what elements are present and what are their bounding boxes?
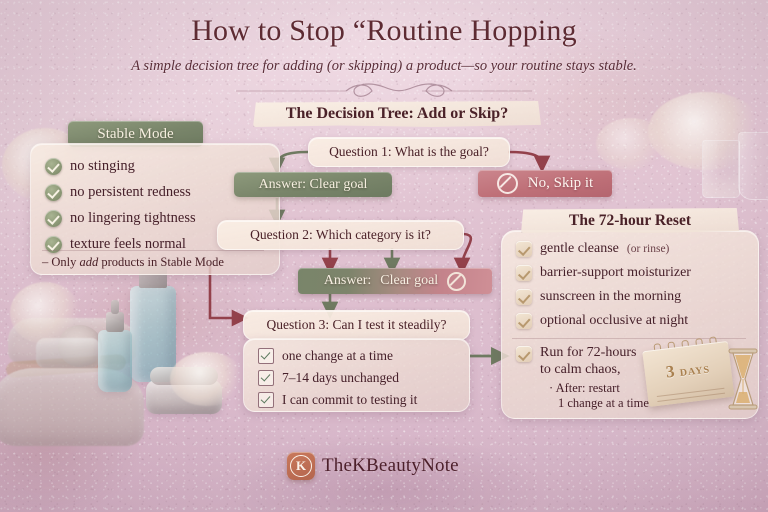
list-item[interactable]: 7–14 days unchanged [258, 370, 469, 386]
answer-2-label: Answer: [324, 273, 371, 289]
list-item: barrier-support moisturizer [516, 265, 756, 281]
after-restart-note: · After: restart 1 change at a time [549, 381, 649, 411]
no-entry-icon [497, 173, 518, 194]
after-line-1: · After: restart [549, 381, 620, 395]
footnote-emphasis: add [80, 255, 99, 269]
question-1-box: Question 1: What is the goal? [308, 137, 510, 167]
answer-2-value: Clear goal [380, 273, 438, 289]
run-line-2: to calm chaos, [540, 362, 620, 377]
hourglass-icon [726, 348, 760, 410]
stable-mode-title: Stable Mode [97, 126, 173, 143]
reset-item-note: (or rinse) [627, 243, 669, 255]
logo-letter: K [290, 455, 312, 477]
infographic-canvas: How to Stop “Routine Hopping A simple de… [0, 0, 768, 512]
checkbox-checked-icon[interactable] [258, 370, 274, 386]
list-item: optional occlusive at night [516, 313, 756, 329]
footnote-prefix: – Only [42, 255, 80, 269]
check-circle-icon [45, 158, 62, 175]
answer-1-chip: Answer: Clear goal [234, 172, 392, 197]
run-line-1: Run for 72-hours [540, 345, 636, 360]
check-badge-icon [516, 346, 532, 362]
calendar-3days-icon: 3 DAYS [642, 335, 735, 407]
footnote-suffix: products in Stable Mode [98, 255, 224, 269]
stable-mode-footnote: – Only add products in Stable Mode [42, 255, 224, 270]
stable-mode-item-label: no stinging [70, 158, 135, 175]
check-circle-icon [45, 184, 62, 201]
question-3-label: Question 3: Can I test it steadily? [267, 317, 447, 333]
question-1-label: Question 1: What is the goal? [329, 144, 489, 160]
list-item[interactable]: one change at a time [258, 348, 469, 364]
list-item: no persistent redness [45, 184, 265, 201]
decision-tree-banner: The Decision Tree: Add or Skip? [253, 101, 541, 127]
steady-item-label: I can commit to testing it [282, 392, 417, 408]
stable-mode-divider [42, 250, 264, 251]
reset-item-label: gentle cleanse [540, 241, 619, 257]
answer-1-label: Answer: Clear goal [259, 177, 368, 193]
check-badge-icon [516, 241, 532, 257]
reset-panel-title: The 72-hour Reset [569, 212, 691, 229]
check-circle-icon [45, 210, 62, 227]
question-2-box: Question 2: Which category is it? [217, 220, 464, 250]
skip-badge[interactable]: No, Skip it [478, 170, 612, 197]
steady-checklist-card: one change at a time 7–14 days unchanged… [243, 338, 470, 412]
check-badge-icon [516, 265, 532, 281]
run-duration-item: Run for 72-hours to calm chaos, [516, 344, 636, 378]
brand-logo-mark: K [287, 452, 315, 480]
calendar-unit: DAYS [679, 364, 710, 379]
list-item: gentle cleanse (or rinse) [516, 241, 756, 257]
checkbox-checked-icon[interactable] [258, 392, 274, 408]
list-item: no stinging [45, 158, 265, 175]
reset-item-label: sunscreen in the morning [540, 289, 681, 305]
stable-mode-item-label: no persistent redness [70, 184, 191, 201]
checkbox-checked-icon[interactable] [258, 348, 274, 364]
brand-name: TheKBeautyNote [322, 452, 459, 480]
reset-checklist: gentle cleanse (or rinse) barrier-suppor… [516, 241, 756, 329]
stable-mode-item-label: no lingering tightness [70, 210, 196, 227]
reset-item-label: optional occlusive at night [540, 313, 688, 329]
answer-2-chip: Answer: Clear goal [298, 268, 492, 294]
steady-item-label: one change at a time [282, 348, 393, 364]
after-line-2: 1 change at a time [558, 396, 649, 410]
no-entry-icon [447, 272, 466, 291]
decision-tree-banner-label: The Decision Tree: Add or Skip? [286, 105, 508, 122]
reset-item-label: barrier-support moisturizer [540, 265, 691, 281]
question-2-label: Question 2: Which category is it? [250, 227, 431, 243]
list-item[interactable]: I can commit to testing it [258, 392, 469, 408]
calendar-number: 3 [665, 362, 676, 382]
reset-panel-banner: The 72-hour Reset [521, 208, 739, 233]
check-badge-icon [516, 313, 532, 329]
question-3-box: Question 3: Can I test it steadily? [243, 310, 470, 340]
skip-badge-label: No, Skip it [528, 175, 593, 192]
list-item: sunscreen in the morning [516, 289, 756, 305]
check-badge-icon [516, 289, 532, 305]
steady-item-label: 7–14 days unchanged [282, 370, 399, 386]
